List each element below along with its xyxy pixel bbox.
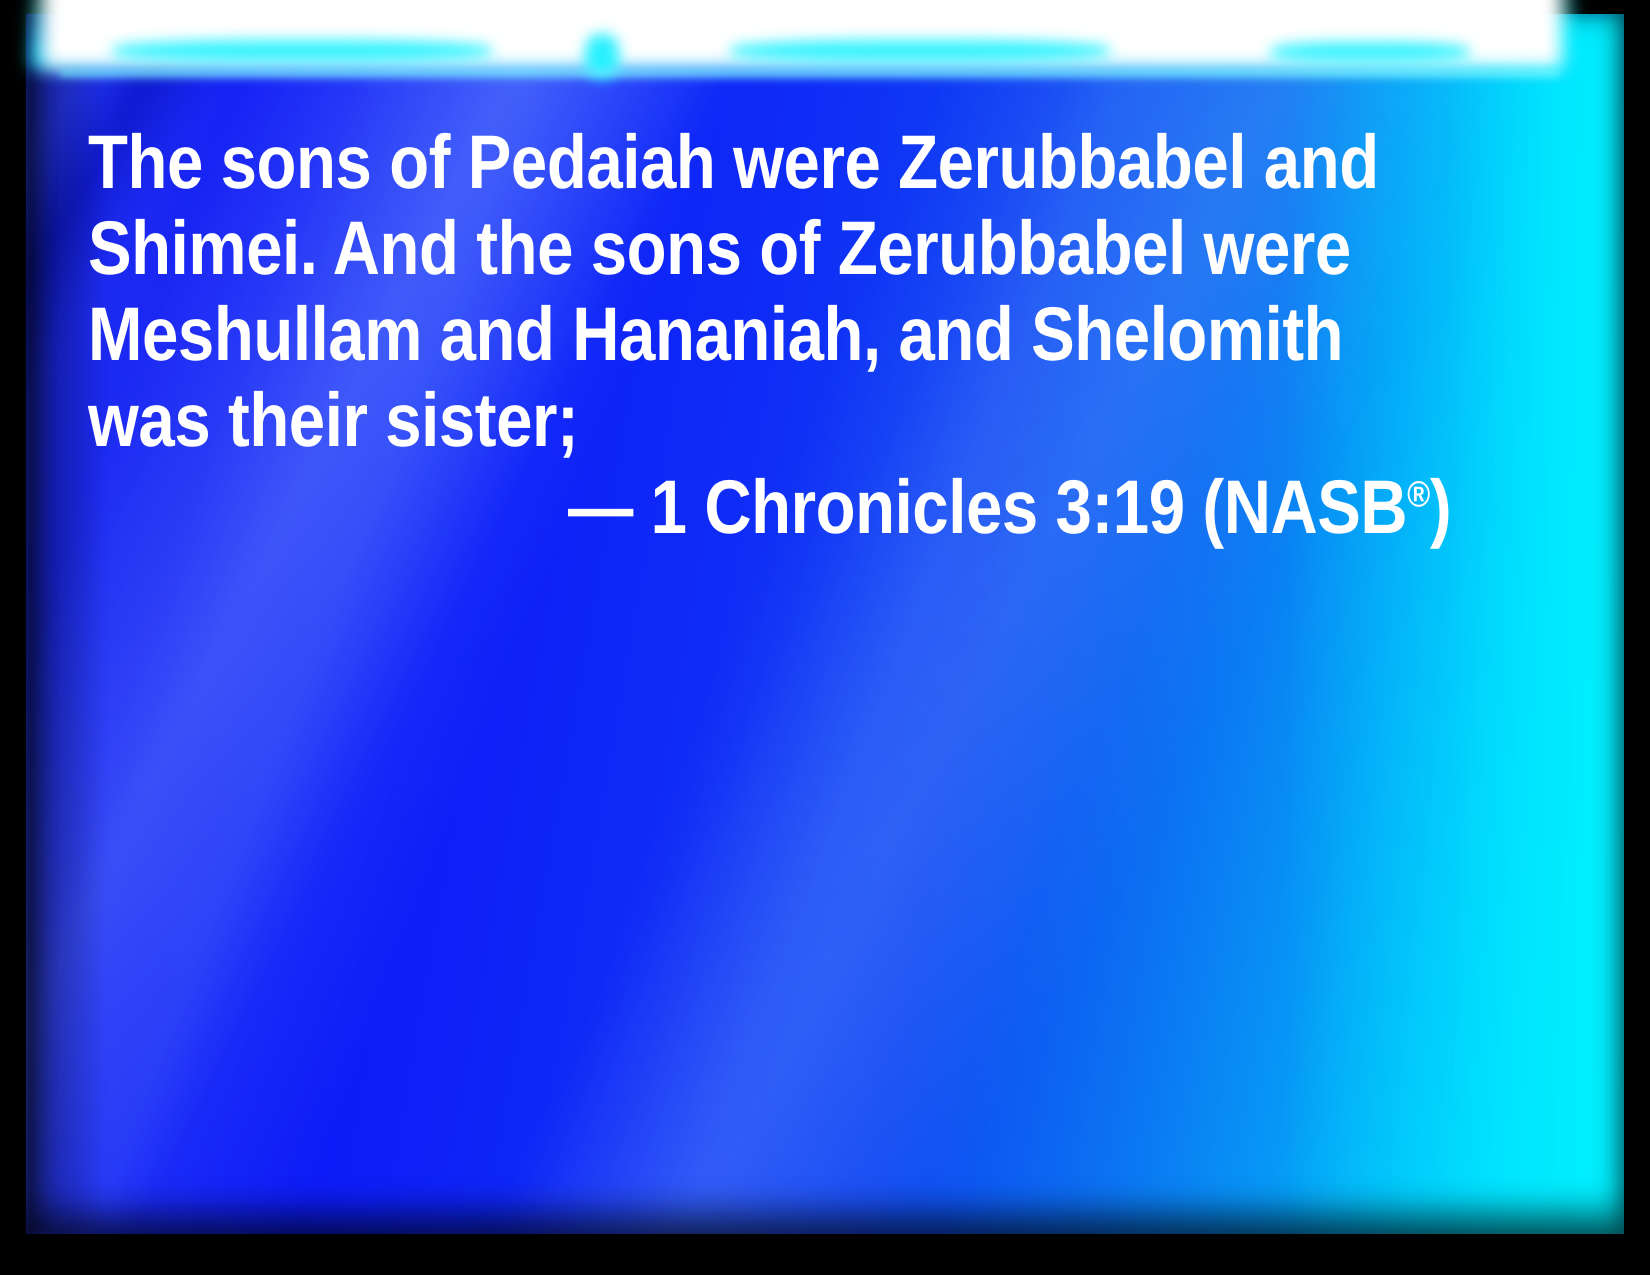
attribution-spacer-1 — [633, 465, 651, 550]
attribution-spacer-2 — [1185, 465, 1203, 550]
verse-line-3: Meshullam and Hananiah, and Shelomith — [88, 292, 1379, 378]
attribution-line: — 1 Chronicles 3:19 (NASB®) — [568, 465, 1451, 551]
verse-line-4: was their sister; — [88, 378, 1379, 464]
attribution-reference: 1 Chronicles 3:19 — [651, 465, 1185, 550]
verse-attribution: — 1 Chronicles 3:19 (NASB®) — [568, 465, 1595, 551]
attribution-translation-close: ) — [1430, 465, 1451, 550]
verse-body: The sons of Pedaiah were Zerubbabel and … — [88, 120, 1589, 464]
verse-line-2: Shimei. And the sons of Zerubbabel were — [88, 206, 1379, 292]
attribution-translation-open: (NASB — [1202, 465, 1407, 550]
verse-line-1: The sons of Pedaiah were Zerubbabel and — [88, 120, 1379, 206]
registered-trademark-icon: ® — [1407, 474, 1430, 515]
verse-slide: The sons of Pedaiah were Zerubbabel and … — [0, 0, 1650, 1275]
attribution-dash: — — [568, 465, 633, 550]
